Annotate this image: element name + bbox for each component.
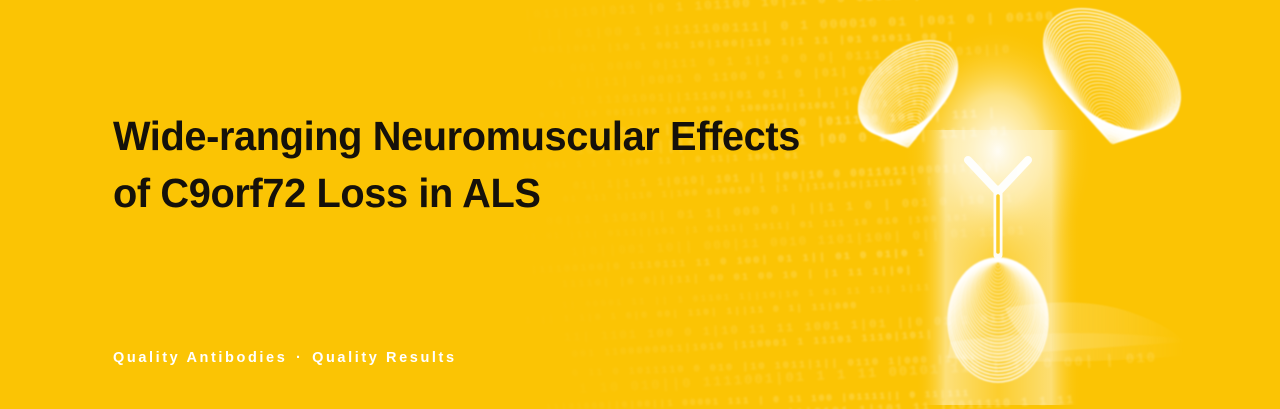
antibody-y-shape-graphic xyxy=(830,0,1230,409)
antibody-right-arm xyxy=(1021,0,1203,156)
banner-headline: Wide-ranging Neuromuscular Effects of C9… xyxy=(113,108,800,222)
banner-content: Wide-ranging Neuromuscular Effects of C9… xyxy=(113,0,873,409)
antibody-lower-lobe xyxy=(948,258,1048,382)
antibody-stem xyxy=(968,160,1028,255)
tagline-part-1: Quality Antibodies xyxy=(113,350,287,366)
tagline-separator-dot: · xyxy=(294,350,305,366)
antibody-shadow xyxy=(948,302,1185,361)
promo-banner: 10 1|001|0|0 |0 0|1000 10|10 |111 0| |1|… xyxy=(0,0,1280,409)
tagline-part-2: Quality Results xyxy=(312,350,457,366)
banner-tagline: Quality Antibodies · Quality Results xyxy=(113,350,457,366)
